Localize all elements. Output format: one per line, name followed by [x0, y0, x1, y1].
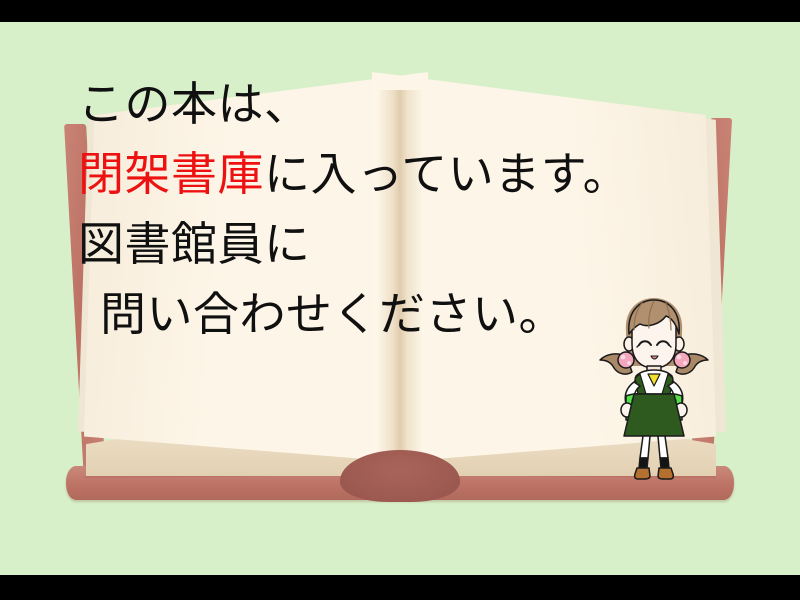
- hair-tie-left: [618, 352, 634, 368]
- ankle-sock-right: [660, 458, 669, 468]
- leg-left: [640, 436, 650, 458]
- slide-root: この本は、 閉架書庫に入っています。 図書館員に 問い合わせください。: [0, 0, 800, 600]
- notice-line-3: 図書館員に: [78, 210, 638, 280]
- jumper-skirt: [624, 394, 684, 436]
- notice-line-2: 閉架書庫に入っています。: [78, 140, 638, 210]
- notice-line-1: この本は、: [78, 70, 638, 140]
- hair-tie-right-dot-b: [683, 361, 687, 365]
- hair-tie-right-dot-a: [677, 355, 682, 360]
- notice-line-4: 問い合わせください。: [78, 280, 638, 350]
- letterbox-top: [0, 0, 800, 22]
- closed-stacks-highlight: 閉架書庫: [78, 147, 264, 201]
- notice-text-block: この本は、 閉架書庫に入っています。 図書館員に 問い合わせください。: [78, 70, 638, 350]
- hair-tie-left-dot-a: [621, 355, 626, 360]
- hair-tie-right: [674, 352, 690, 368]
- shoe-right: [658, 468, 673, 479]
- shoe-left: [635, 468, 650, 479]
- girl-reading-icon: [596, 290, 712, 480]
- hair-tie-left-dot-b: [627, 361, 631, 365]
- leg-right: [658, 436, 668, 458]
- notice-line-2-rest: に入っています。: [264, 147, 629, 201]
- letterbox-bottom: [0, 575, 800, 600]
- slide-canvas: この本は、 閉架書庫に入っています。 図書館員に 問い合わせください。: [0, 22, 800, 575]
- ankle-sock-left: [639, 458, 648, 468]
